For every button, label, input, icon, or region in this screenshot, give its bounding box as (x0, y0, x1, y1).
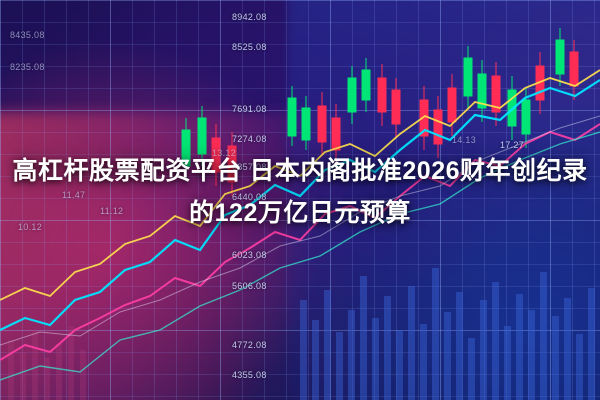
price-label: 17.27 (500, 140, 524, 150)
headline-text: 高杠杆股票配资平台 日本内阁批准2026财年创纪录的122万亿日元预算 (0, 150, 600, 234)
price-label: 4355.08 (232, 370, 267, 380)
price-label: 7274.08 (232, 134, 267, 144)
price-label: 8942.08 (232, 12, 267, 22)
price-label: 6023.08 (232, 250, 267, 260)
price-label: 8435.08 (10, 30, 45, 40)
price-label: 8235.08 (10, 62, 45, 72)
price-label: 5606.08 (232, 281, 267, 291)
price-label: 14.13 (452, 135, 476, 145)
price-label: 8525.08 (232, 42, 267, 52)
price-label: 4772.08 (232, 340, 267, 350)
price-label: 7691.08 (232, 104, 267, 114)
stock-chart-banner: 8942.08 8525.08 8435.08 8235.08 7691.08 … (0, 0, 600, 400)
